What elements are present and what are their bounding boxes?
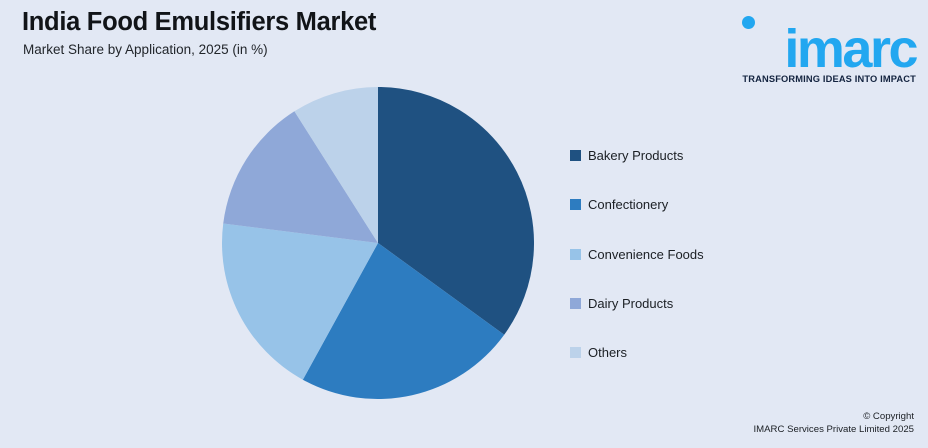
legend-item[interactable]: Bakery Products [570,131,870,180]
legend-item-label: Bakery Products [588,148,683,163]
legend-item[interactable]: Others [570,328,870,377]
legend-swatch-icon [570,249,581,260]
pie-chart [222,87,534,399]
chart-legend: Bakery ProductsConfectioneryConvenience … [570,131,870,377]
legend-swatch-icon [570,347,581,358]
page-title: India Food Emulsifiers Market [22,8,376,37]
legend-swatch-icon [570,199,581,210]
logo-tagline: TRANSFORMING IDEAS INTO IMPACT [720,74,916,84]
legend-item[interactable]: Dairy Products [570,279,870,328]
chart-container: India Food Emulsifiers Market Market Sha… [0,0,928,448]
logo-wordmark: imarc [720,22,916,76]
imarc-logo: imarc TRANSFORMING IDEAS INTO IMPACT [720,8,916,82]
legend-item[interactable]: Confectionery [570,180,870,229]
legend-swatch-icon [570,298,581,309]
legend-item[interactable]: Convenience Foods [570,230,870,279]
copyright-block: © Copyright IMARC Services Private Limit… [754,410,915,436]
legend-item-label: Others [588,345,627,360]
legend-item-label: Confectionery [588,197,668,212]
legend-item-label: Dairy Products [588,296,673,311]
copyright-line-2: IMARC Services Private Limited 2025 [754,423,915,436]
legend-item-label: Convenience Foods [588,247,704,262]
legend-swatch-icon [570,150,581,161]
copyright-line-1: © Copyright [754,410,915,423]
page-subtitle: Market Share by Application, 2025 (in %) [23,42,268,57]
